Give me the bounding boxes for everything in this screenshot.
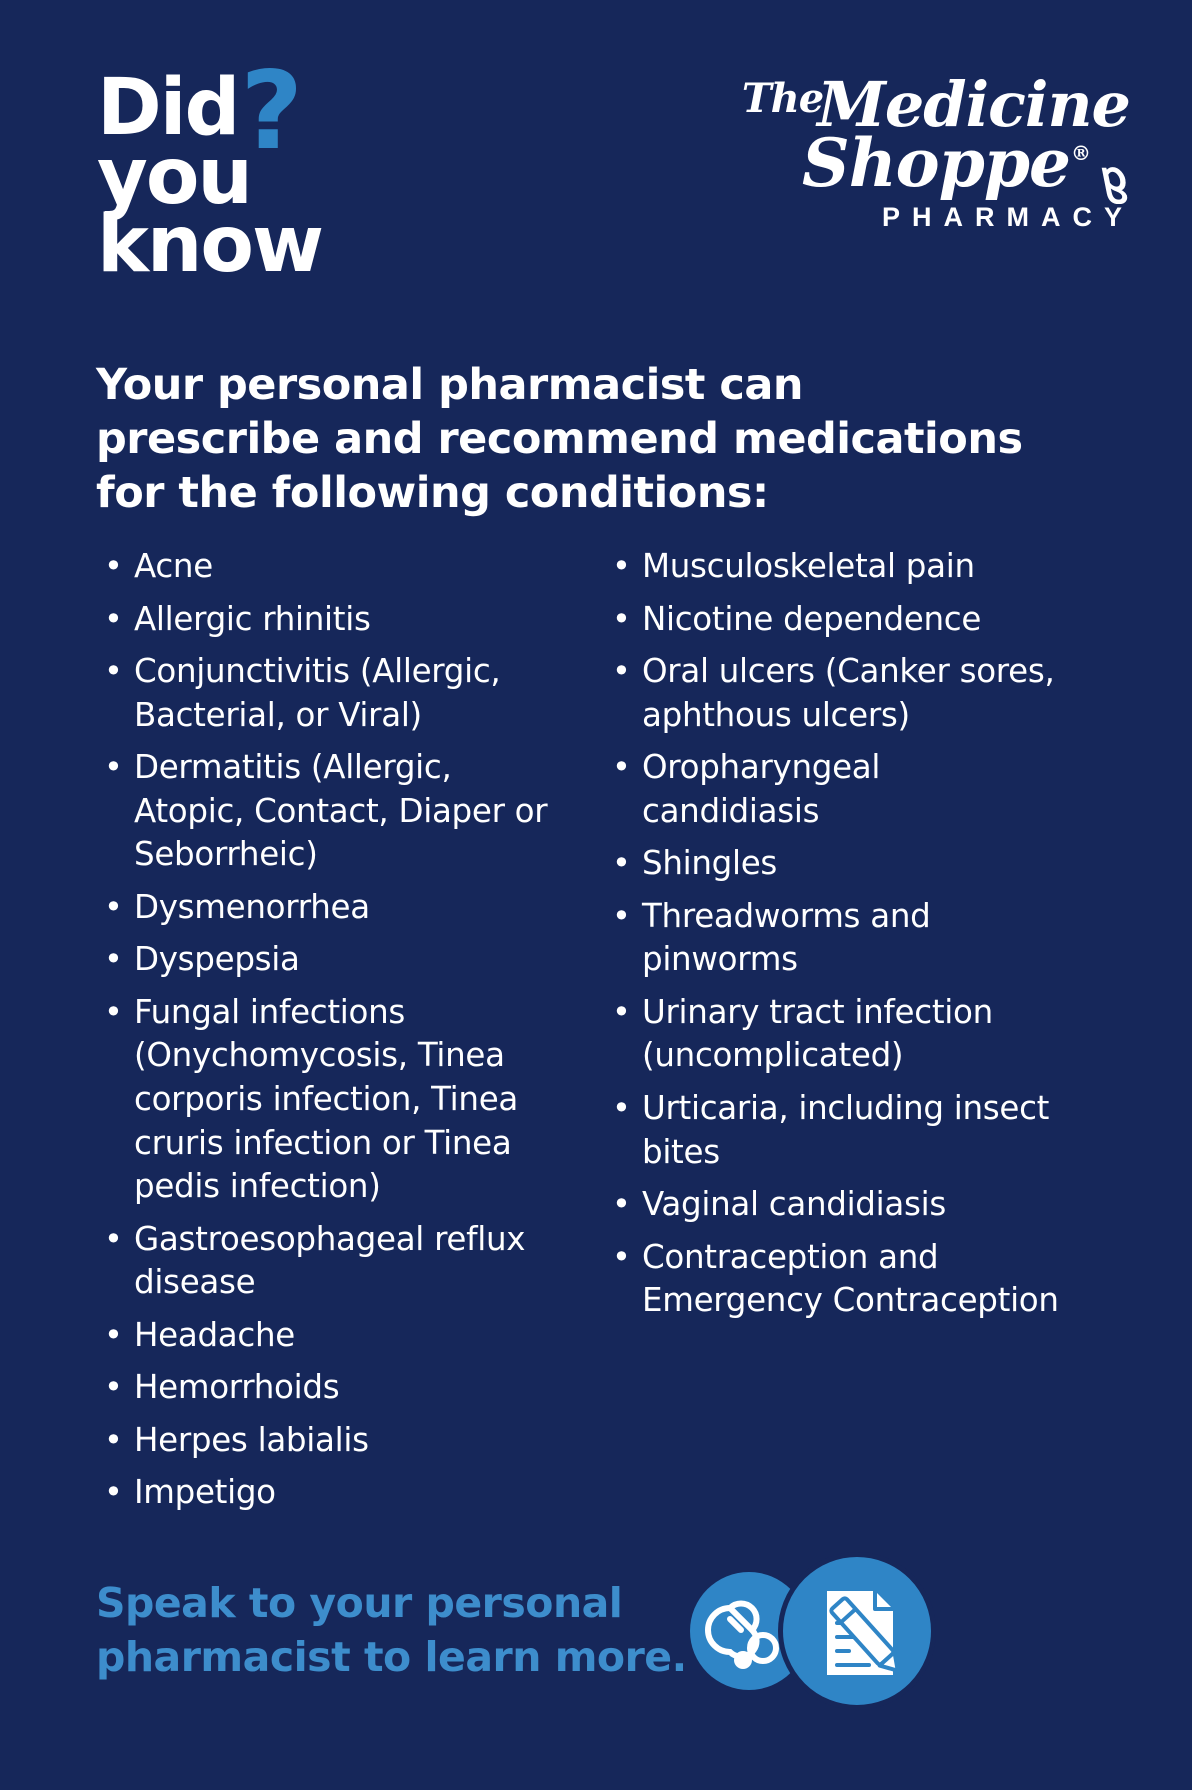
- did-you-know-heading: Did? you know: [97, 74, 517, 280]
- condition-label: Musculoskeletal pain: [642, 547, 975, 585]
- bullet-icon: •: [612, 1236, 631, 1279]
- bullet-icon: •: [104, 545, 123, 588]
- condition-list-item: •Herpes labialis: [96, 1419, 556, 1463]
- bullet-icon: •: [612, 746, 631, 789]
- condition-list-item: •Impetigo: [96, 1471, 556, 1515]
- bullet-icon: •: [104, 1419, 123, 1462]
- conditions-right-column: •Musculoskeletal pain•Nicotine dependenc…: [604, 545, 1064, 1524]
- bullet-icon: •: [612, 1087, 631, 1130]
- condition-list-item: •Hemorrhoids: [96, 1366, 556, 1410]
- condition-list-item: •Dyspepsia: [96, 938, 556, 982]
- condition-list-item: •Contraception and Emergency Contracepti…: [604, 1236, 1064, 1323]
- condition-label: Acne: [134, 547, 213, 585]
- bullet-icon: •: [612, 1183, 631, 1226]
- bullet-icon: •: [104, 938, 123, 981]
- question-mark-icon: ?: [240, 49, 299, 174]
- poster-header: Did? you know TheMedicine Shoppe®ℊ PHARM…: [0, 62, 1192, 292]
- condition-label: Nicotine dependence: [642, 600, 981, 638]
- page-title: Your personal pharmacist can prescribe a…: [96, 358, 1096, 521]
- bullet-icon: •: [104, 886, 123, 929]
- mortar-pestle-icon: ℊ: [1093, 156, 1136, 199]
- bullet-icon: •: [612, 991, 631, 1034]
- headline-line-3: for the following conditions:: [96, 466, 1096, 520]
- bullet-icon: •: [104, 991, 123, 1034]
- bullet-icon: •: [612, 842, 631, 885]
- condition-list-item: •Shingles: [604, 842, 1064, 886]
- bullet-icon: •: [104, 598, 123, 641]
- bullet-icon: •: [104, 650, 123, 693]
- did-you-know-poster: Did? you know TheMedicine Shoppe®ℊ PHARM…: [0, 0, 1192, 1790]
- conditions-left-column: •Acne•Allergic rhinitis•Conjunctivitis (…: [96, 545, 556, 1524]
- condition-label: Headache: [134, 1316, 295, 1354]
- condition-label: Oropharyngeal candidiasis: [642, 748, 880, 830]
- condition-label: Hemorrhoids: [134, 1368, 339, 1406]
- condition-label: Urinary tract infection (uncomplicated): [642, 993, 993, 1075]
- bullet-icon: •: [612, 598, 631, 641]
- conditions-list-left: •Acne•Allergic rhinitis•Conjunctivitis (…: [96, 545, 556, 1515]
- logo-word-shoppe: Shoppe: [802, 124, 1070, 202]
- bullet-icon: •: [104, 1218, 123, 1261]
- condition-list-item: •Headache: [96, 1314, 556, 1358]
- condition-list-item: •Dysmenorrhea: [96, 886, 556, 930]
- condition-label: Shingles: [642, 844, 777, 882]
- condition-label: Threadworms and pinworms: [642, 897, 930, 979]
- call-to-action-text: Speak to your personal pharmacist to lea…: [96, 1576, 736, 1684]
- condition-list-item: •Musculoskeletal pain: [604, 545, 1064, 589]
- condition-label: Dysmenorrhea: [134, 888, 370, 926]
- bullet-icon: •: [612, 895, 631, 938]
- condition-label: Herpes labialis: [134, 1421, 369, 1459]
- bullet-icon: •: [104, 1366, 123, 1409]
- condition-label: Oral ulcers (Canker sores, aphthous ulce…: [642, 652, 1055, 734]
- heading-line-3: know: [97, 211, 517, 280]
- condition-list-item: •Conjunctivitis (Allergic, Bacterial, or…: [96, 650, 556, 737]
- condition-label: Vaginal candidiasis: [642, 1185, 946, 1223]
- cta-line-2: pharmacist to learn more.: [96, 1630, 736, 1684]
- registered-trademark-icon: ®: [1071, 141, 1090, 165]
- prescription-document-pen-icon: [778, 1552, 936, 1710]
- condition-list-item: •Threadworms and pinworms: [604, 895, 1064, 982]
- headline-line-2: prescribe and recommend medications: [96, 412, 1096, 466]
- medicine-shoppe-logo: TheMedicine Shoppe®ℊ PHARMACY: [714, 76, 1134, 266]
- conditions-columns: •Acne•Allergic rhinitis•Conjunctivitis (…: [96, 545, 1106, 1524]
- condition-label: Fungal infections (Onychomycosis, Tinea …: [134, 993, 518, 1205]
- condition-label: Allergic rhinitis: [134, 600, 371, 638]
- condition-label: Gastroesophageal reflux disease: [134, 1220, 525, 1302]
- condition-label: Dermatitis (Allergic, Atopic, Contact, D…: [134, 748, 547, 873]
- condition-label: Urticaria, including insect bites: [642, 1089, 1049, 1171]
- condition-list-item: •Fungal infections (Onychomycosis, Tinea…: [96, 991, 556, 1209]
- logo-word-pharmacy: PHARMACY: [714, 202, 1134, 233]
- headline-line-1: Your personal pharmacist can: [96, 358, 1096, 412]
- condition-label: Contraception and Emergency Contraceptio…: [642, 1238, 1059, 1320]
- condition-list-item: •Urinary tract infection (uncomplicated): [604, 991, 1064, 1078]
- bullet-icon: •: [104, 746, 123, 789]
- logo-word-the: The: [742, 75, 823, 122]
- bullet-icon: •: [104, 1314, 123, 1357]
- bullet-icon: •: [612, 650, 631, 693]
- logo-line-shoppe: Shoppe®ℊ: [714, 131, 1134, 196]
- condition-list-item: •Allergic rhinitis: [96, 598, 556, 642]
- condition-list-item: •Vaginal candidiasis: [604, 1183, 1064, 1227]
- condition-list-item: •Dermatitis (Allergic, Atopic, Contact, …: [96, 746, 556, 877]
- condition-label: Impetigo: [134, 1473, 276, 1511]
- condition-list-item: •Oropharyngeal candidiasis: [604, 746, 1064, 833]
- condition-label: Conjunctivitis (Allergic, Bacterial, or …: [134, 652, 500, 734]
- condition-list-item: •Acne: [96, 545, 556, 589]
- condition-list-item: •Oral ulcers (Canker sores, aphthous ulc…: [604, 650, 1064, 737]
- condition-label: Dyspepsia: [134, 940, 300, 978]
- cta-line-1: Speak to your personal: [96, 1576, 736, 1630]
- conditions-list-right: •Musculoskeletal pain•Nicotine dependenc…: [604, 545, 1064, 1323]
- bullet-icon: •: [104, 1471, 123, 1514]
- footer-icon-group: [690, 1552, 940, 1712]
- condition-list-item: •Nicotine dependence: [604, 598, 1064, 642]
- condition-list-item: •Urticaria, including insect bites: [604, 1087, 1064, 1174]
- bullet-icon: •: [612, 545, 631, 588]
- condition-list-item: •Gastroesophageal reflux disease: [96, 1218, 556, 1305]
